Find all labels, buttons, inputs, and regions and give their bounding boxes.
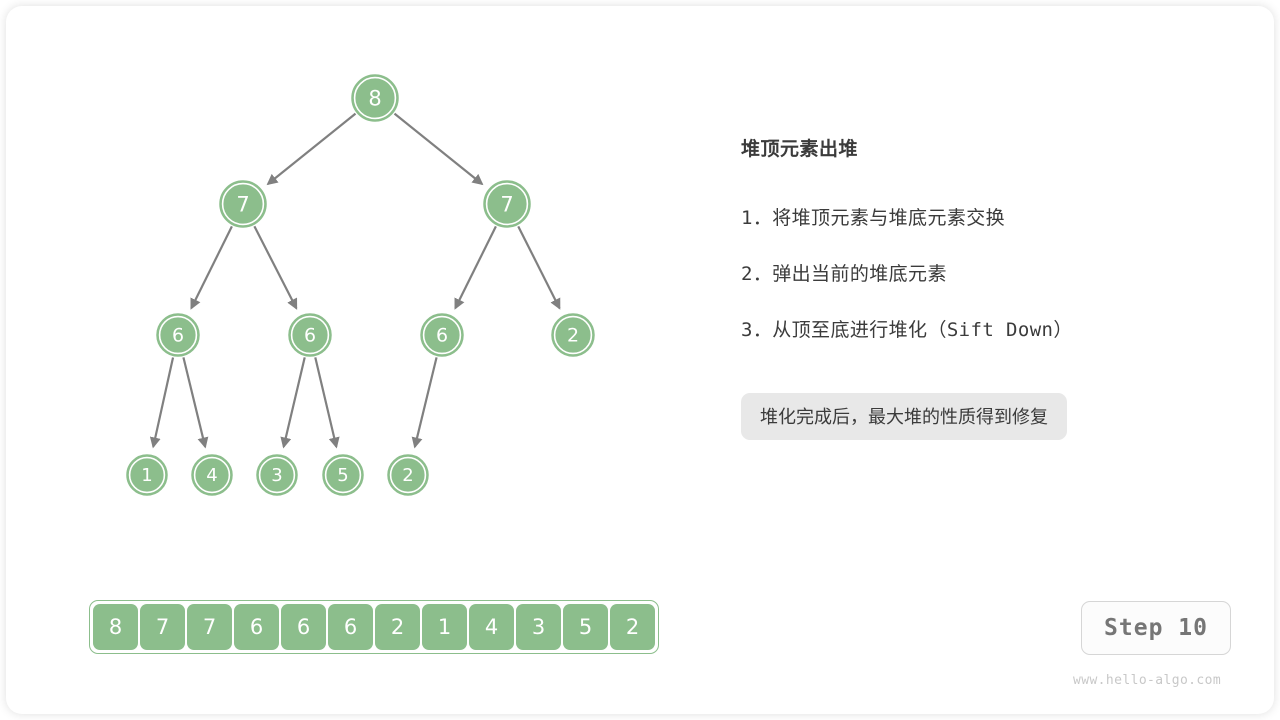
tree-edge — [518, 226, 559, 308]
tree-edge — [183, 357, 205, 446]
tree-node: 5 — [323, 455, 363, 495]
instruction-step-1: 1．将堆顶元素与堆底元素交换 — [741, 203, 1211, 230]
tree-nodes: 877666214352 — [127, 75, 594, 495]
array-cell: 6 — [234, 604, 279, 650]
array-cell: 4 — [469, 604, 514, 650]
array-cell: 6 — [328, 604, 373, 650]
tree-node: 6 — [157, 314, 199, 356]
tree-node: 3 — [257, 455, 297, 495]
tree-edge — [394, 114, 482, 184]
tree-edge — [268, 114, 356, 184]
tree-edge — [284, 357, 305, 446]
tree-node: 4 — [192, 455, 232, 495]
tree-edge — [254, 226, 296, 308]
instruction-step-2: 2．弹出当前的堆底元素 — [741, 259, 1211, 286]
tree-node: 2 — [388, 455, 428, 495]
array-cell: 6 — [281, 604, 326, 650]
node-label: 2 — [567, 325, 579, 347]
node-label: 1 — [141, 465, 152, 486]
binary-tree-diagram: 877666214352 — [0, 0, 700, 560]
tree-node: 7 — [220, 181, 266, 227]
array-cell: 8 — [93, 604, 138, 650]
array-cell: 1 — [422, 604, 467, 650]
tree-edge — [455, 226, 496, 308]
node-label: 3 — [271, 465, 282, 486]
array-cell: 7 — [140, 604, 185, 650]
node-label: 8 — [368, 87, 381, 111]
array-cell: 2 — [610, 604, 655, 650]
array-cell: 2 — [375, 604, 420, 650]
tree-node: 2 — [552, 314, 594, 356]
note-callout: 堆化完成后，最大堆的性质得到修复 — [741, 393, 1067, 440]
array-cell: 3 — [516, 604, 561, 650]
node-label: 7 — [236, 193, 249, 217]
node-label: 5 — [337, 465, 348, 486]
tree-node: 6 — [421, 314, 463, 356]
node-label: 2 — [402, 465, 413, 486]
watermark: www.hello-algo.com — [1073, 673, 1221, 688]
panel-title: 堆顶元素出堆 — [741, 134, 1211, 161]
tree-node: 1 — [127, 455, 167, 495]
node-label: 6 — [436, 325, 448, 347]
tree-edges — [153, 114, 559, 447]
node-label: 6 — [304, 325, 316, 347]
array-representation: 877666214352 — [89, 600, 659, 654]
instruction-step-3: 3．从顶至底进行堆化（Sift Down） — [741, 315, 1211, 342]
explanation-panel: 堆顶元素出堆 1．将堆顶元素与堆底元素交换 2．弹出当前的堆底元素 3．从顶至底… — [741, 134, 1211, 440]
node-label: 6 — [172, 325, 184, 347]
tree-node: 8 — [352, 75, 398, 121]
slide-canvas: 877666214352 堆顶元素出堆 1．将堆顶元素与堆底元素交换 2．弹出当… — [0, 0, 1280, 720]
array-cell: 7 — [187, 604, 232, 650]
array-cell: 5 — [563, 604, 608, 650]
tree-node: 7 — [484, 181, 530, 227]
tree-edge — [415, 357, 437, 446]
node-label: 4 — [206, 465, 217, 486]
tree-edge — [153, 357, 173, 446]
tree-node: 6 — [289, 314, 331, 356]
node-label: 7 — [500, 193, 513, 217]
tree-edge — [315, 357, 336, 446]
tree-edge — [191, 226, 232, 308]
step-badge: Step 10 — [1081, 601, 1231, 655]
